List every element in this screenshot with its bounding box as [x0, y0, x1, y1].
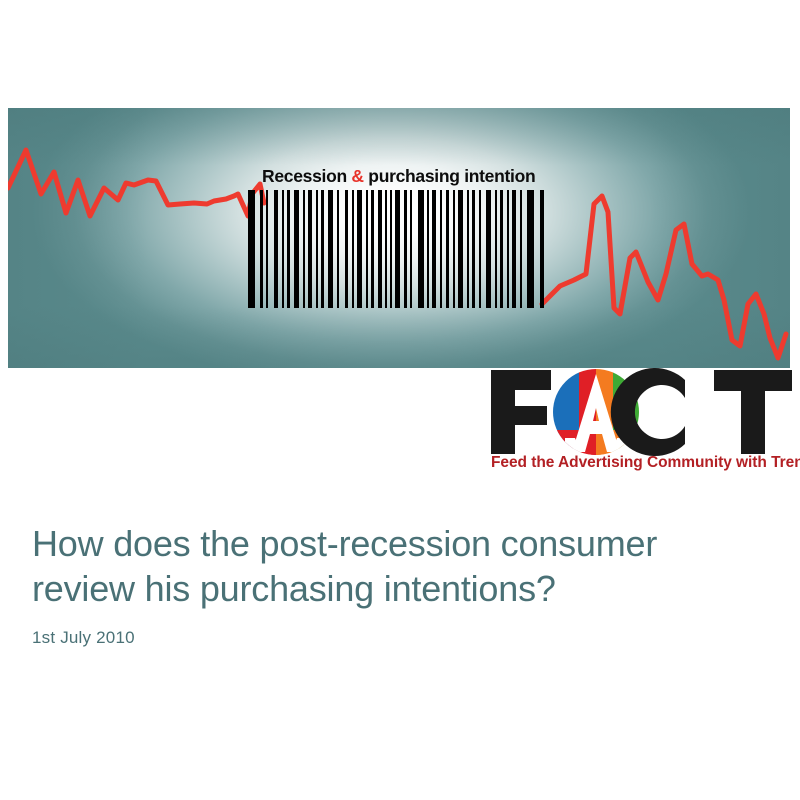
trend-line-left [8, 150, 264, 216]
page-title-line-2: review his purchasing intentions? [32, 568, 556, 609]
page-title-line-1: How does the post-recession consumer [32, 523, 657, 564]
trend-line-right [542, 196, 786, 358]
logo-letter-t [714, 370, 792, 454]
page-title: How does the post-recession consumerrevi… [32, 521, 762, 611]
fact-logo: Feed the Advertising Community with Tren… [489, 368, 794, 478]
slide-date: 1st July 2010 [32, 628, 762, 648]
barcode-label-suffix: purchasing intention [364, 166, 536, 186]
logo-letter-f [491, 370, 551, 454]
barcode-graphic: Recession & purchasing intention [244, 163, 554, 308]
title-block: How does the post-recession consumerrevi… [32, 521, 762, 648]
barcode-label-ampersand: & [351, 166, 363, 186]
barcode-label-prefix: Recession [262, 166, 351, 186]
barcode-bars [244, 190, 554, 308]
hero-banner: Recession & purchasing intention [8, 108, 790, 368]
barcode-label: Recession & purchasing intention [262, 163, 542, 189]
logo-tagline: Feed the Advertising Community with Tren… [491, 454, 794, 472]
fact-wordmark [489, 368, 794, 456]
title-slide: Recession & purchasing intention [0, 0, 800, 800]
